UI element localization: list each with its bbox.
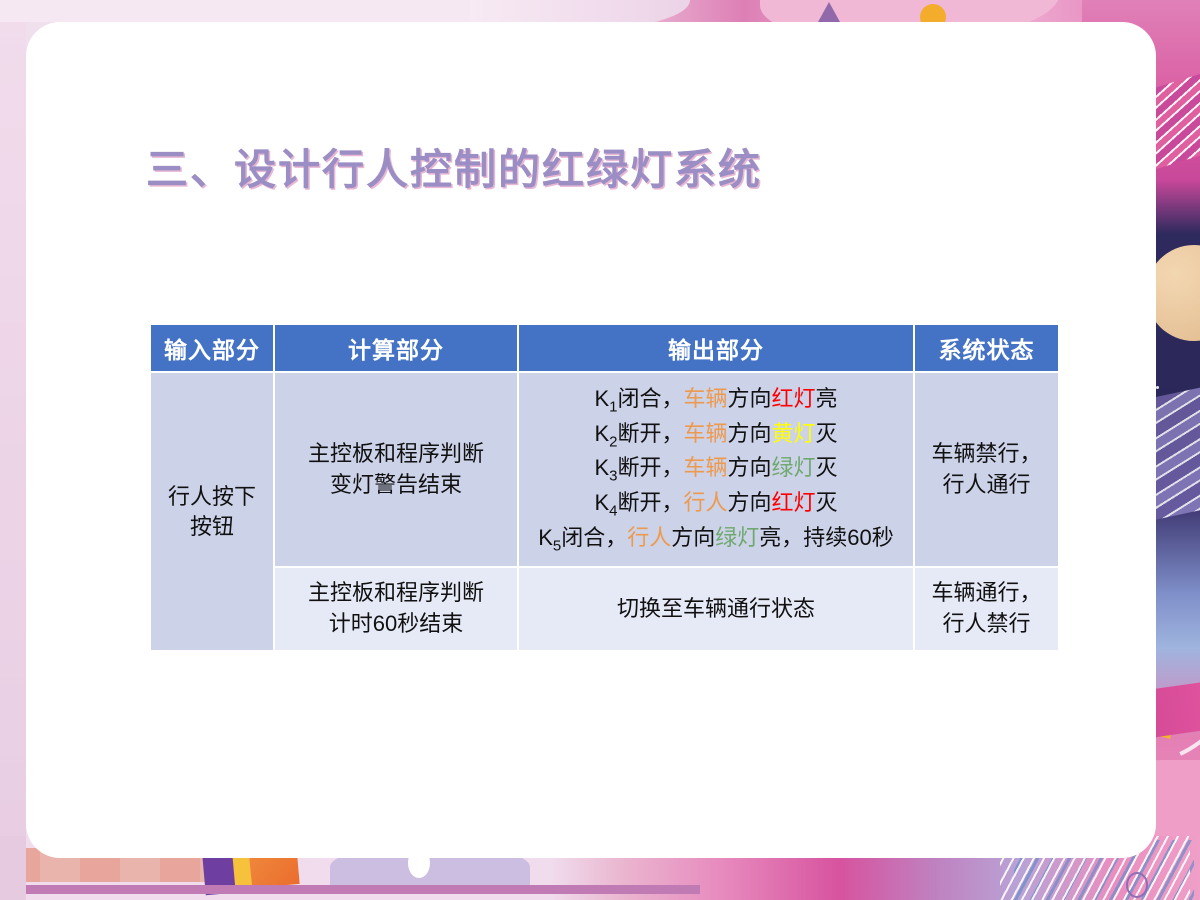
cell-state-row2: 车辆通行， 行人禁行 <box>914 567 1059 651</box>
state-table: 输入部分 计算部分 输出部分 系统状态 行人按下 按钮 主控板和程序判断 变灯警… <box>149 323 1060 652</box>
star-icon <box>1156 386 1159 389</box>
cell-compute-row1: 主控板和程序判断 变灯警告结束 <box>274 372 518 567</box>
output-segment: 方向 <box>728 421 772 446</box>
table-row: 主控板和程序判断 计时60秒结束 切换至车辆通行状态 车辆通行， 行人禁行 <box>150 567 1059 651</box>
output-line: K5闭合，行人方向绿灯亮，持续60秒 <box>525 522 907 557</box>
output-segment: 闭合， <box>617 386 683 411</box>
output-line: K2断开，车辆方向黄灯灭 <box>525 418 907 453</box>
state-row2-line2: 行人禁行 <box>942 611 1030 636</box>
output-segment: 灭 <box>816 490 838 515</box>
output-segment: 断开， <box>617 455 683 480</box>
column-header-input: 输入部分 <box>150 324 274 372</box>
table-header: 输入部分 计算部分 输出部分 系统状态 <box>150 324 1059 372</box>
left-edge-decoration <box>0 0 26 900</box>
output-segment: K <box>594 490 609 515</box>
output-segment: 绿灯 <box>772 455 816 480</box>
state-table-container: 输入部分 计算部分 输出部分 系统状态 行人按下 按钮 主控板和程序判断 变灯警… <box>149 323 1058 652</box>
table-body: 行人按下 按钮 主控板和程序判断 变灯警告结束 K1闭合，车辆方向红灯亮K2断开… <box>150 372 1059 651</box>
cell-compute-row2: 主控板和程序判断 计时60秒结束 <box>274 567 518 651</box>
state-row2-line1: 车辆通行， <box>931 580 1041 605</box>
compute-row1-line1: 主控板和程序判断 <box>308 441 484 466</box>
cell-output-row1: K1闭合，车辆方向红灯亮K2断开，车辆方向黄灯灭K3断开，车辆方向绿灯灭K4断开… <box>518 372 914 567</box>
output-segment: 红灯 <box>772 490 816 515</box>
output-segment: 绿灯 <box>715 525 759 550</box>
column-header-state: 系统状态 <box>914 324 1059 372</box>
output-segment: 行人 <box>627 525 671 550</box>
table-header-row: 输入部分 计算部分 输出部分 系统状态 <box>150 324 1059 372</box>
output-segment: 方向 <box>728 490 772 515</box>
cell-input-action: 行人按下 按钮 <box>150 372 274 651</box>
output-segment: 黄灯 <box>772 421 816 446</box>
compute-row2-line1: 主控板和程序判断 <box>308 580 484 605</box>
bottom-purple-strip <box>0 885 700 894</box>
output-line: K3断开，车辆方向绿灯灭 <box>525 452 907 487</box>
output-segment: 车辆 <box>683 386 727 411</box>
output-segment: K <box>538 525 553 550</box>
table-row: 行人按下 按钮 主控板和程序判断 变灯警告结束 K1闭合，车辆方向红灯亮K2断开… <box>150 372 1059 567</box>
cell-output-row2: 切换至车辆通行状态 <box>518 567 914 651</box>
column-header-output: 输出部分 <box>518 324 914 372</box>
output-segment: 断开， <box>617 490 683 515</box>
output-segment: 车辆 <box>683 455 727 480</box>
cell-state-row1: 车辆禁行， 行人通行 <box>914 372 1059 567</box>
column-header-compute: 计算部分 <box>274 324 518 372</box>
output-line-list: K1闭合，车辆方向红灯亮K2断开，车辆方向黄灯灭K3断开，车辆方向绿灯灭K4断开… <box>525 383 907 556</box>
output-segment: K <box>594 386 609 411</box>
state-row1-line1: 车辆禁行， <box>931 441 1041 466</box>
output-segment: 红灯 <box>772 386 816 411</box>
output-segment: 方向 <box>728 386 772 411</box>
compute-row2-line2: 计时60秒结束 <box>329 611 463 636</box>
bottom-left-pink <box>0 836 26 900</box>
output-segment: 方向 <box>728 455 772 480</box>
output-segment: K <box>594 421 609 446</box>
top-decoration-band <box>0 0 1200 22</box>
output-line: K4断开，行人方向红灯灭 <box>525 487 907 522</box>
output-segment: 断开， <box>617 421 683 446</box>
compute-row1-line2: 变灯警告结束 <box>330 472 462 497</box>
output-segment: 灭 <box>816 455 838 480</box>
state-row1-line2: 行人通行 <box>942 472 1030 497</box>
output-segment: 5 <box>553 537 561 554</box>
output-segment: 闭合， <box>561 525 627 550</box>
bottom-ring-icon <box>1126 872 1148 898</box>
output-segment: 亮 <box>816 386 838 411</box>
input-action-line2: 按钮 <box>190 514 234 539</box>
output-segment: 行人 <box>683 490 727 515</box>
input-action-line1: 行人按下 <box>168 484 256 509</box>
output-segment: 方向 <box>671 525 715 550</box>
output-line: K1闭合，车辆方向红灯亮 <box>525 383 907 418</box>
output-segment: 灭 <box>816 421 838 446</box>
top-triangle-icon <box>818 2 840 22</box>
output-segment: 亮，持续60秒 <box>759 525 893 550</box>
output-segment: K <box>594 455 609 480</box>
output-segment: 车辆 <box>683 421 727 446</box>
page-title: 三、设计行人控制的红绿灯系统 <box>146 136 762 197</box>
